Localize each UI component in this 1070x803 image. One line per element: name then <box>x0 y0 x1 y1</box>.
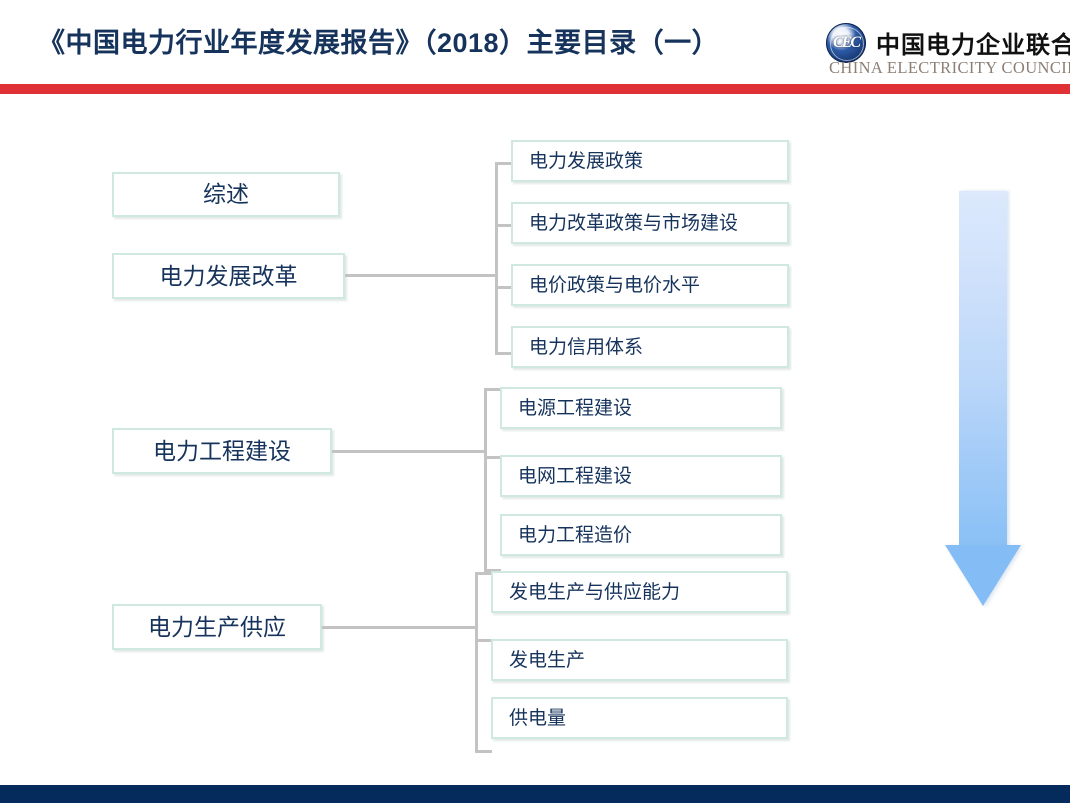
node-label: 电力发展改革 <box>160 265 298 288</box>
connector-branch <box>484 388 501 391</box>
node-generation-supply-capacity[interactable]: 发电生产与供应能力 <box>491 571 788 613</box>
connector-branch <box>495 224 512 227</box>
node-label: 电力改革政策与市场建设 <box>529 214 738 233</box>
connector-branch <box>495 352 512 355</box>
node-power-source-project[interactable]: 电源工程建设 <box>500 387 782 429</box>
connector-trunk <box>322 626 476 629</box>
node-label: 电力工程建设 <box>153 440 291 463</box>
page-title: 《中国电力行业年度发展报告》（2018）主要目录（一） <box>38 27 719 59</box>
cec-emblem-icon: CEC <box>826 23 866 63</box>
node-electricity-price-policy-level[interactable]: 电价政策与电价水平 <box>511 264 789 306</box>
connector-branch <box>475 639 492 642</box>
node-label: 电价政策与电价水平 <box>529 276 700 295</box>
header-red-rule <box>0 84 1070 94</box>
node-power-development-reform[interactable]: 电力发展改革 <box>112 253 345 299</box>
node-label: 电网工程建设 <box>518 467 632 486</box>
connector-branch <box>475 572 492 575</box>
connector-trunk <box>332 450 485 453</box>
down-arrow-icon <box>945 191 1021 606</box>
node-power-credit-system[interactable]: 电力信用体系 <box>511 326 789 368</box>
node-power-reform-policy-market[interactable]: 电力改革政策与市场建设 <box>511 202 789 244</box>
connector-spine <box>484 388 487 572</box>
node-label: 发电生产 <box>509 651 585 670</box>
node-label: 电力生产供应 <box>148 616 286 639</box>
logo-name-chinese: 中国电力企业联合会 <box>876 25 1070 60</box>
connector-branch <box>495 162 512 165</box>
emblem-monogram: CEC <box>826 23 866 63</box>
arrow-head <box>945 545 1021 606</box>
node-electricity-supply-volume[interactable]: 供电量 <box>491 697 788 739</box>
connector-spine <box>495 162 498 355</box>
connector-spine <box>475 572 478 753</box>
toc-diagram: 综述 电力发展改革 电力发展政策 电力改革政策与市场建设 电价政策与电价水平 电… <box>0 94 1070 785</box>
slide-header: 《中国电力行业年度发展报告》（2018）主要目录（一） CEC 中国电力企业联合… <box>0 0 1070 84</box>
node-label: 供电量 <box>509 709 566 728</box>
connector-branch <box>495 286 512 289</box>
node-label: 综述 <box>203 183 249 206</box>
node-power-development-policy[interactable]: 电力发展政策 <box>511 140 789 182</box>
connector-trunk <box>345 274 498 277</box>
node-label: 电力发展政策 <box>529 152 643 171</box>
connector-branch <box>484 456 501 459</box>
node-label: 发电生产与供应能力 <box>509 583 680 602</box>
node-label: 电力信用体系 <box>529 338 643 357</box>
connector-branch <box>475 750 492 753</box>
node-power-engineering-construction[interactable]: 电力工程建设 <box>112 428 332 474</box>
node-power-project-cost[interactable]: 电力工程造价 <box>500 514 782 556</box>
footer-bar <box>0 785 1070 803</box>
node-grid-project[interactable]: 电网工程建设 <box>500 455 782 497</box>
arrow-shaft <box>959 191 1007 546</box>
node-label: 电力工程造价 <box>518 526 632 545</box>
logo-name-english: CHINA ELECTRICITY COUNCIL <box>829 58 1070 78</box>
node-label: 电源工程建设 <box>518 399 632 418</box>
node-power-generation[interactable]: 发电生产 <box>491 639 788 681</box>
slide-canvas: 《中国电力行业年度发展报告》（2018）主要目录（一） CEC 中国电力企业联合… <box>0 0 1070 803</box>
organization-logo: CEC 中国电力企业联合会 CHINA ELECTRICITY COUNCIL <box>826 20 1062 82</box>
node-overview[interactable]: 综述 <box>112 172 340 217</box>
node-power-production-supply[interactable]: 电力生产供应 <box>112 604 322 650</box>
